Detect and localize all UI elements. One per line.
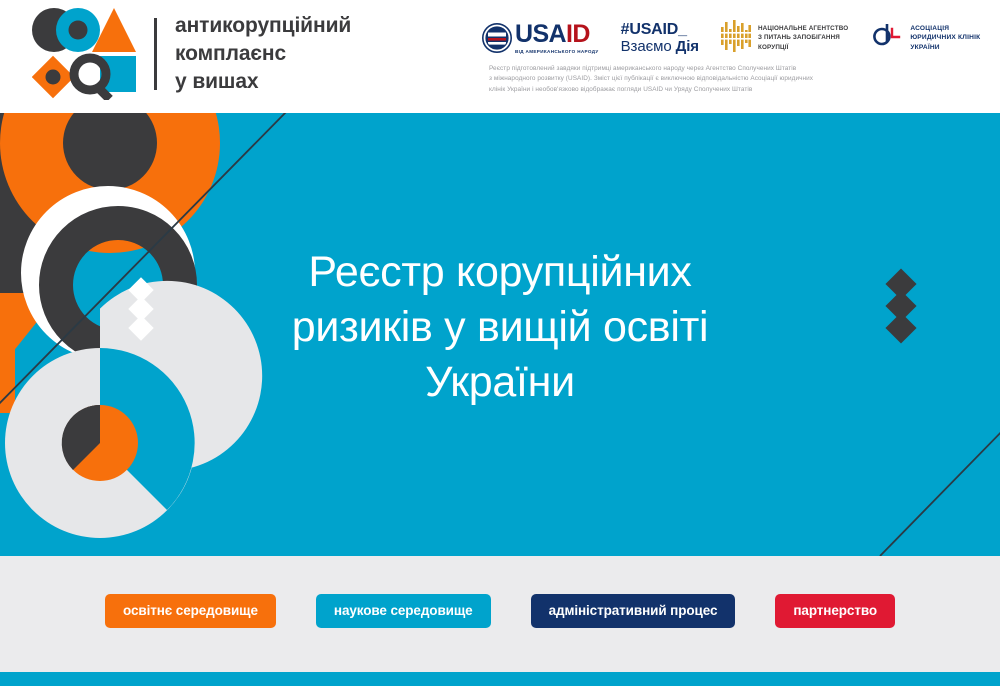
nav-button-naukove-seredovyshche[interactable]: наукове середовище (316, 594, 491, 628)
nazk-label: НАЦІОНАЛЬНЕ АГЕНТСТВО З ПИТАНЬ ЗАПОБІГАН… (758, 24, 848, 51)
usaid-seal-icon (482, 23, 512, 53)
page-title: Реєстр корупційних ризиків у вищій освіт… (0, 245, 1000, 410)
association-monogram-icon (870, 21, 904, 56)
nav-button-osvitnie-seredovyshche[interactable]: освітнє середовище (105, 594, 276, 628)
partner-logo-nazk: НАЦІОНАЛЬНЕ АГЕНТСТВО З ПИТАНЬ ЗАПОБІГАН… (721, 16, 848, 60)
landing-page: антикорупційний комплаєнс у вишах USA (0, 0, 1000, 686)
partner-logos: USAID ВІД АМЕРИКАНСЬКОГО НАРОДУ #USAID_ … (482, 14, 980, 62)
nazk-bars-icon (721, 20, 751, 57)
footer-color-strip (0, 672, 1000, 686)
site-header: антикорупційний комплаєнс у вишах USA (0, 0, 1000, 113)
partner-logo-usaid: USAID ВІД АМЕРИКАНСЬКОГО НАРОДУ (482, 16, 599, 60)
usaid-wordmark: USAID (515, 22, 599, 47)
usaid-word-red: ID (566, 20, 590, 48)
brand-name: антикорупційний комплаєнс у вишах (175, 12, 351, 95)
category-nav-row: освітнє середовище наукове середовище ад… (0, 594, 1000, 628)
category-nav: освітнє середовище наукове середовище ад… (0, 556, 1000, 672)
nav-button-administratyvnyi-protses[interactable]: адміністративний процес (531, 594, 736, 628)
usaid-disclaimer: Реєстр підготовлений завдяки підтримці а… (489, 64, 939, 95)
brand-divider (154, 18, 157, 90)
usaid-hashtag: #USAID_ (621, 21, 699, 39)
partner-logo-association: АСОЦІАЦІЯ ЮРИДИЧНИХ КЛІНІК УКРАЇНИ (870, 16, 980, 60)
brand-lockup[interactable]: антикорупційний комплаєнс у вишах (32, 8, 351, 100)
vzaiemo-text: Взаємо (621, 38, 676, 55)
nav-button-partnerstvo[interactable]: партнерство (775, 594, 895, 628)
usaid-vzaiemo-diia-label: Взаємо Дія (621, 39, 699, 56)
compliance-logo-icon (32, 8, 136, 100)
usaid-tagline: ВІД АМЕРИКАНСЬКОГО НАРОДУ (515, 49, 599, 54)
diia-text: Дія (676, 38, 699, 55)
association-label: АСОЦІАЦІЯ ЮРИДИЧНИХ КЛІНІК УКРАЇНИ (910, 24, 980, 52)
usaid-word-blue: USA (515, 20, 566, 48)
partner-logo-usaid-vzaiemo-diia: #USAID_ Взаємо Дія (621, 16, 699, 60)
hero-section: Реєстр корупційних ризиків у вищій освіт… (0, 113, 1000, 556)
